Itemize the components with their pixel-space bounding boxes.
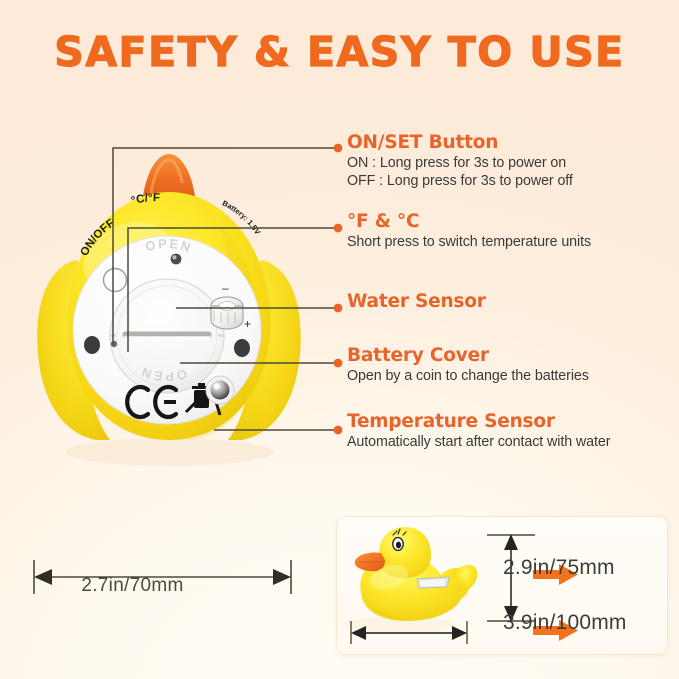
callout-heading: Water Sensor bbox=[347, 292, 486, 312]
callout-water-sensor: Water Sensor bbox=[347, 292, 486, 312]
callout-dot-3 bbox=[334, 304, 343, 313]
polarity-plus-label: + bbox=[244, 317, 251, 331]
main-width-label: 2.7in/70mm bbox=[0, 575, 265, 597]
callout-dot-2 bbox=[334, 224, 343, 233]
callout-heading: Temperature Sensor bbox=[347, 412, 610, 432]
callout-on-set-button: ON/SET Button ON : Long press for 3s to … bbox=[347, 133, 573, 190]
callout-dot-4 bbox=[334, 359, 343, 368]
rubber-foot-left bbox=[84, 336, 100, 354]
inset-height-label: 2.9in/75mm bbox=[503, 556, 615, 580]
callout-line: Short press to switch temperature units bbox=[347, 234, 591, 252]
rubber-foot-right bbox=[234, 339, 250, 357]
duck-side-view bbox=[341, 527, 477, 633]
water-sensor-contact[interactable] bbox=[171, 254, 182, 265]
callout-temperature-sensor: Temperature Sensor Automatically start a… bbox=[347, 412, 610, 452]
callout-heading: ON/SET Button bbox=[347, 133, 573, 153]
infographic-page: SAFETY & EASY TO USE bbox=[0, 0, 679, 679]
on-set-button[interactable] bbox=[104, 269, 127, 292]
small-vent-hole bbox=[111, 341, 117, 347]
callout-line: ON : Long press for 3s to power on bbox=[347, 155, 573, 173]
callout-temperature-units: °F & °C Short press to switch temperatur… bbox=[347, 212, 591, 252]
callout-line: OFF : Long press for 3s to power off bbox=[347, 173, 573, 191]
callout-dot-1 bbox=[334, 144, 343, 153]
temperature-sensor[interactable] bbox=[206, 376, 234, 404]
display-window bbox=[417, 577, 449, 588]
callout-dot-5 bbox=[334, 426, 343, 435]
callout-heading: Battery Cover bbox=[347, 346, 589, 366]
callout-line: Automatically start after contact with w… bbox=[347, 434, 610, 452]
page-title: SAFETY & EASY TO USE bbox=[0, 28, 679, 76]
callout-heading: °F & °C bbox=[347, 212, 591, 232]
callout-battery-cover: Battery Cover Open by a coin to change t… bbox=[347, 346, 589, 386]
callout-line: Open by a coin to change the batteries bbox=[347, 368, 589, 386]
duck-thermometer-rear-view: ON/OFF °C/°F Battery: 1.5V LR41 (AG3) bbox=[24, 140, 314, 470]
polarity-minus-label: – bbox=[222, 281, 229, 295]
inset-width-label: 3.9in/100mm bbox=[503, 611, 627, 635]
